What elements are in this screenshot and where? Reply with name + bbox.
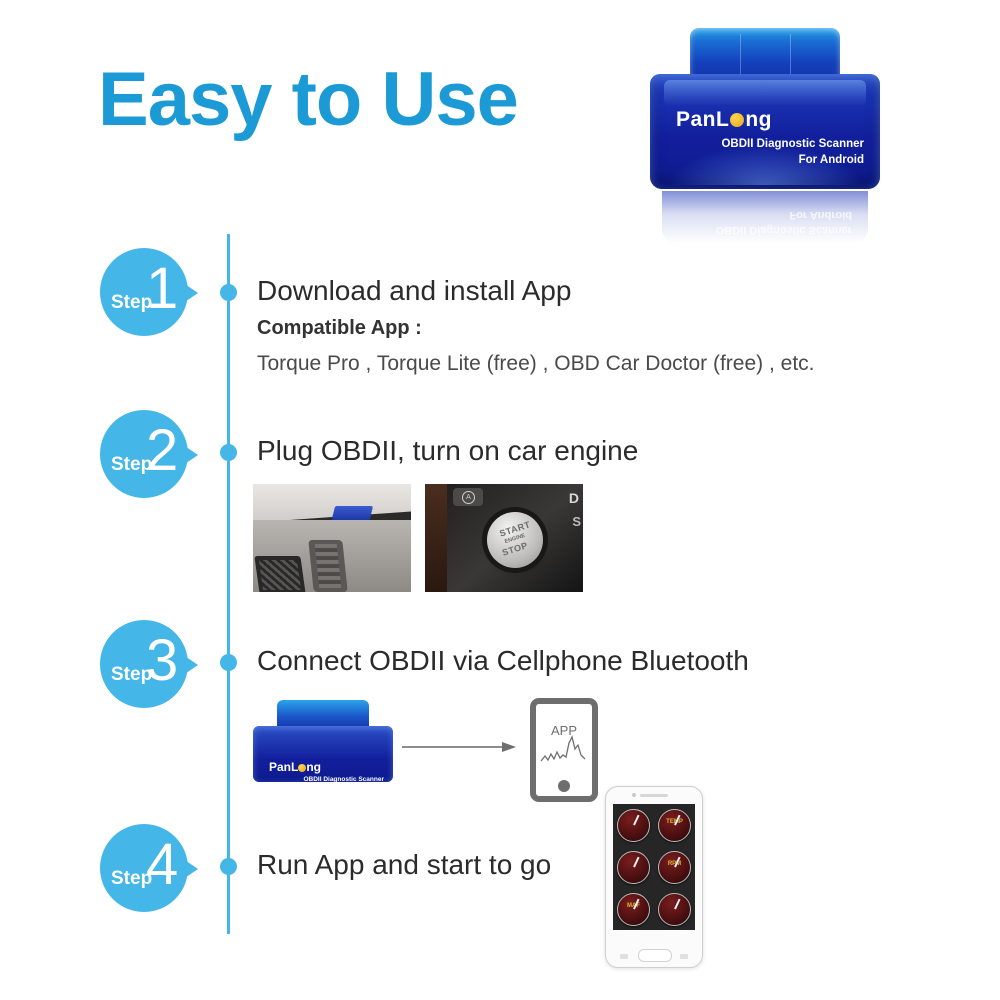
badge-pointer-icon — [176, 278, 198, 308]
gear-label-s: S — [572, 514, 581, 529]
gauge-dial — [617, 809, 650, 842]
device-subtitle-line2: For Android — [799, 154, 864, 166]
gauge-dial: RPM — [658, 851, 691, 884]
gauge-value: TEMP — [659, 819, 690, 825]
step-2-heading: Plug OBDII, turn on car engine — [257, 435, 638, 467]
infographic-page: Easy to Use PanLng OBDII Diagnostic Scan… — [0, 0, 1000, 1000]
badge-number: 4 — [146, 836, 178, 894]
arrow-shaft — [402, 746, 506, 748]
menu-key[interactable] — [620, 954, 628, 959]
gauge-dial: TEMP — [658, 809, 691, 842]
step-3-heading: Connect OBDII via Cellphone Bluetooth — [257, 645, 749, 677]
phone-icon-home-button — [558, 780, 570, 792]
panlong-logo: PanLng — [269, 760, 321, 774]
step-badge-2: Step 2 — [100, 410, 192, 498]
reflection-line1: OBDII Diagnostic Scanner — [716, 224, 852, 236]
gear-label-d: D — [569, 490, 579, 506]
obdii-device-small-image: PanLng OBDII Diagnostic Scanner For Andr… — [253, 700, 393, 782]
earpiece-speaker — [640, 794, 668, 797]
brand-suffix: ng — [745, 108, 772, 131]
page-title: Easy to Use — [98, 62, 518, 138]
auto-hold-icon: A — [462, 491, 475, 504]
phone-home-button[interactable] — [638, 949, 672, 962]
step-badge-3: Step 3 — [100, 620, 192, 708]
engine-start-button-photo: A D S START ENGINE STOP — [425, 484, 583, 592]
smartphone-running-app: TEMP RPM MAF — [605, 786, 703, 968]
compatible-app-label: Compatible App : — [257, 317, 422, 340]
car-footwell-photo — [253, 484, 411, 592]
reflection-line2: For Android — [789, 209, 852, 221]
brand-dot-icon — [730, 113, 744, 127]
step-4-heading: Run App and start to go — [257, 849, 551, 881]
step-badge-4: Step 4 — [100, 824, 192, 912]
timeline-line — [227, 234, 230, 934]
brand-prefix: PanL — [269, 760, 298, 774]
connection-arrow-icon — [402, 742, 520, 752]
auto-hold-button: A — [453, 488, 483, 506]
hero-obdii-device-image: PanLng OBDII Diagnostic Scanner For Andr… — [650, 28, 880, 243]
badge-pointer-icon — [176, 854, 198, 884]
gauge-value: MAF — [618, 903, 649, 909]
phone-icon-screen: APP — [539, 707, 589, 769]
badge-number: 2 — [146, 422, 178, 480]
device-reflection: For Android OBDII Diagnostic Scanner — [662, 191, 868, 243]
phone-screen: TEMP RPM MAF — [613, 804, 695, 930]
panlong-logo: PanLng — [676, 108, 772, 132]
badge-number: 1 — [146, 260, 178, 318]
gauge-dial — [658, 893, 691, 926]
wood-trim — [425, 484, 447, 592]
brand-suffix: ng — [306, 760, 321, 774]
badge-pointer-icon — [176, 440, 198, 470]
device-subtitle-line2: For Android — [347, 787, 384, 794]
brake-pedal — [254, 556, 305, 592]
device-subtitle-line1: OBDII Diagnostic Scanner — [721, 138, 864, 150]
app-phone-icon: APP — [530, 698, 598, 802]
brand-prefix: PanL — [676, 108, 729, 131]
accelerator-pedal — [308, 540, 347, 592]
device-subtitle-line1: OBDII Diagnostic Scanner — [303, 776, 384, 783]
timeline-dot-step-2 — [220, 444, 237, 461]
back-key[interactable] — [680, 954, 688, 959]
arrow-head — [502, 742, 516, 752]
step-1-heading: Download and install App — [257, 275, 571, 307]
front-camera-icon — [632, 793, 636, 797]
device-body: PanLng OBDII Diagnostic Scanner For Andr… — [650, 74, 880, 189]
compatible-app-value: Torque Pro , Torque Lite (free) , OBD Ca… — [257, 352, 814, 376]
timeline-dot-step-1 — [220, 284, 237, 301]
gauge-dial — [617, 851, 650, 884]
gauge-dial: MAF — [617, 893, 650, 926]
device-body: PanLng OBDII Diagnostic Scanner For Andr… — [253, 726, 393, 782]
badge-pointer-icon — [176, 650, 198, 680]
step-badge-1: Step 1 — [100, 248, 192, 336]
gauge-value: RPM — [659, 861, 690, 867]
timeline-dot-step-4 — [220, 858, 237, 875]
waveform-chart-icon — [539, 735, 589, 769]
badge-number: 3 — [146, 632, 178, 690]
start-stop-button[interactable]: START ENGINE STOP — [487, 512, 543, 568]
timeline-dot-step-3 — [220, 654, 237, 671]
